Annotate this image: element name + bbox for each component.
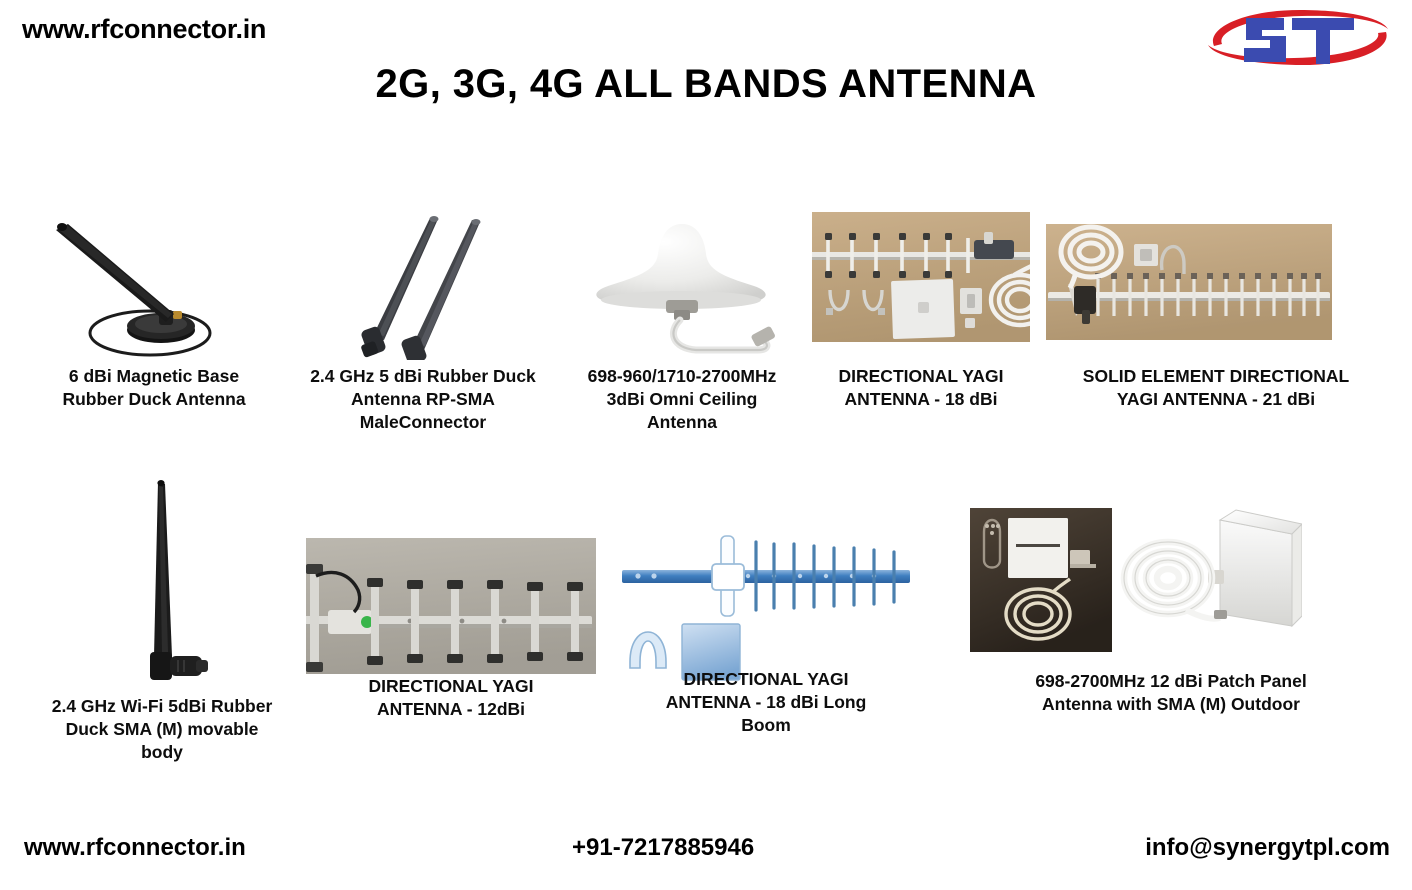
product-card-yagi-12dbi[interactable]: DIRECTIONAL YAGI ANTENNA - 12dBi [306, 470, 596, 690]
label-line: ANTENNA - 18 dBi Long [608, 691, 924, 714]
footer-email[interactable]: info@synergytpl.com [1145, 834, 1390, 862]
product-card-patch-panel-12dbi[interactable]: 698-2700MHz 12 dBi Patch Panel Antenna w… [936, 470, 1406, 690]
product-image [562, 210, 802, 360]
label-line: ANTENNA - 18 dBi [812, 388, 1030, 411]
product-card-omni-ceiling-antenna[interactable]: 698-960/1710-2700MHz 3dBi Omni Ceiling A… [562, 210, 802, 360]
label-line: Antenna with SMA (M) Outdoor [936, 693, 1406, 716]
product-label: 698-960/1710-2700MHz 3dBi Omni Ceiling A… [562, 365, 802, 434]
footer-phone[interactable]: +91-7217885946 [572, 834, 754, 862]
patch-panel-antenna-icon [962, 498, 1302, 668]
label-line: 3dBi Omni Ceiling [562, 388, 802, 411]
magnetic-base-antenna-icon [28, 210, 280, 360]
product-card-rubber-duck-rp-sma[interactable]: 2.4 GHz 5 dBi Rubber Duck Antenna RP-SMA… [292, 210, 554, 360]
label-line: Boom [608, 714, 924, 737]
page-header: www.rfconnector.in 2G, 3G, 4G ALL BANDS … [0, 0, 1412, 130]
long-boom-yagi-antenna-icon [608, 512, 924, 682]
label-line: body [22, 741, 302, 764]
page-footer: www.rfconnector.in +91-7217885946 info@s… [0, 812, 1412, 890]
label-line: ANTENNA - 12dBi [306, 698, 596, 721]
product-image [292, 210, 554, 360]
product-image [1032, 210, 1400, 360]
label-line: 2.4 GHz 5 dBi Rubber Duck [292, 365, 554, 388]
product-label: 698-2700MHz 12 dBi Patch Panel Antenna w… [936, 670, 1406, 716]
label-line: MaleConnector [292, 411, 554, 434]
product-label: 2.4 GHz 5 dBi Rubber Duck Antenna RP-SMA… [292, 365, 554, 434]
product-card-wifi-5dbi-movable[interactable]: 2.4 GHz Wi-Fi 5dBi Rubber Duck SMA (M) m… [22, 470, 302, 690]
product-image [608, 470, 924, 690]
product-label: DIRECTIONAL YAGI ANTENNA - 12dBi [306, 675, 596, 721]
company-logo [1200, 2, 1396, 74]
omni-ceiling-antenna-icon [562, 210, 802, 360]
label-line: Antenna [562, 411, 802, 434]
wifi-rubber-duck-antenna-icon [22, 470, 302, 690]
product-label: SOLID ELEMENT DIRECTIONAL YAGI ANTENNA -… [1032, 365, 1400, 411]
product-card-magnetic-base-rubber-duck[interactable]: 6 dBi Magnetic Base Rubber Duck Antenna [28, 210, 280, 360]
label-line: Rubber Duck Antenna [28, 388, 280, 411]
product-grid: 6 dBi Magnetic Base Rubber Duck Antenna [0, 130, 1412, 810]
product-image [306, 470, 596, 690]
st-logo-icon [1200, 2, 1396, 74]
label-line: 6 dBi Magnetic Base [28, 365, 280, 388]
label-line: DIRECTIONAL YAGI [812, 365, 1030, 388]
label-line: DIRECTIONAL YAGI [608, 668, 924, 691]
solid-element-yagi-antenna-icon [1046, 224, 1332, 340]
product-image [28, 210, 280, 360]
dual-rubber-duck-antenna-icon [292, 210, 554, 360]
product-image [936, 470, 1406, 690]
product-label: 2.4 GHz Wi-Fi 5dBi Rubber Duck SMA (M) m… [22, 695, 302, 764]
product-label: DIRECTIONAL YAGI ANTENNA - 18 dBi [812, 365, 1030, 411]
label-line: 2.4 GHz Wi-Fi 5dBi Rubber [22, 695, 302, 718]
label-line: 698-2700MHz 12 dBi Patch Panel [936, 670, 1406, 693]
label-line: DIRECTIONAL YAGI [306, 675, 596, 698]
product-card-yagi-18dbi-long-boom[interactable]: DIRECTIONAL YAGI ANTENNA - 18 dBi Long B… [608, 470, 924, 690]
product-label: DIRECTIONAL YAGI ANTENNA - 18 dBi Long B… [608, 668, 924, 737]
product-card-yagi-18dbi[interactable]: DIRECTIONAL YAGI ANTENNA - 18 dBi [812, 210, 1030, 360]
footer-site-url[interactable]: www.rfconnector.in [24, 834, 246, 862]
label-line: SOLID ELEMENT DIRECTIONAL [1032, 365, 1400, 388]
label-line: 698-960/1710-2700MHz [562, 365, 802, 388]
header-site-url: www.rfconnector.in [22, 14, 266, 45]
product-image [22, 470, 302, 690]
yagi-12dbi-antenna-icon [306, 538, 596, 674]
product-card-yagi-21dbi-solid[interactable]: SOLID ELEMENT DIRECTIONAL YAGI ANTENNA -… [1032, 210, 1400, 360]
product-image [812, 210, 1030, 360]
label-line: Duck SMA (M) movable [22, 718, 302, 741]
yagi-antenna-kit-icon [812, 212, 1030, 342]
product-label: 6 dBi Magnetic Base Rubber Duck Antenna [28, 365, 280, 411]
label-line: YAGI ANTENNA - 21 dBi [1032, 388, 1400, 411]
label-line: Antenna RP-SMA [292, 388, 554, 411]
